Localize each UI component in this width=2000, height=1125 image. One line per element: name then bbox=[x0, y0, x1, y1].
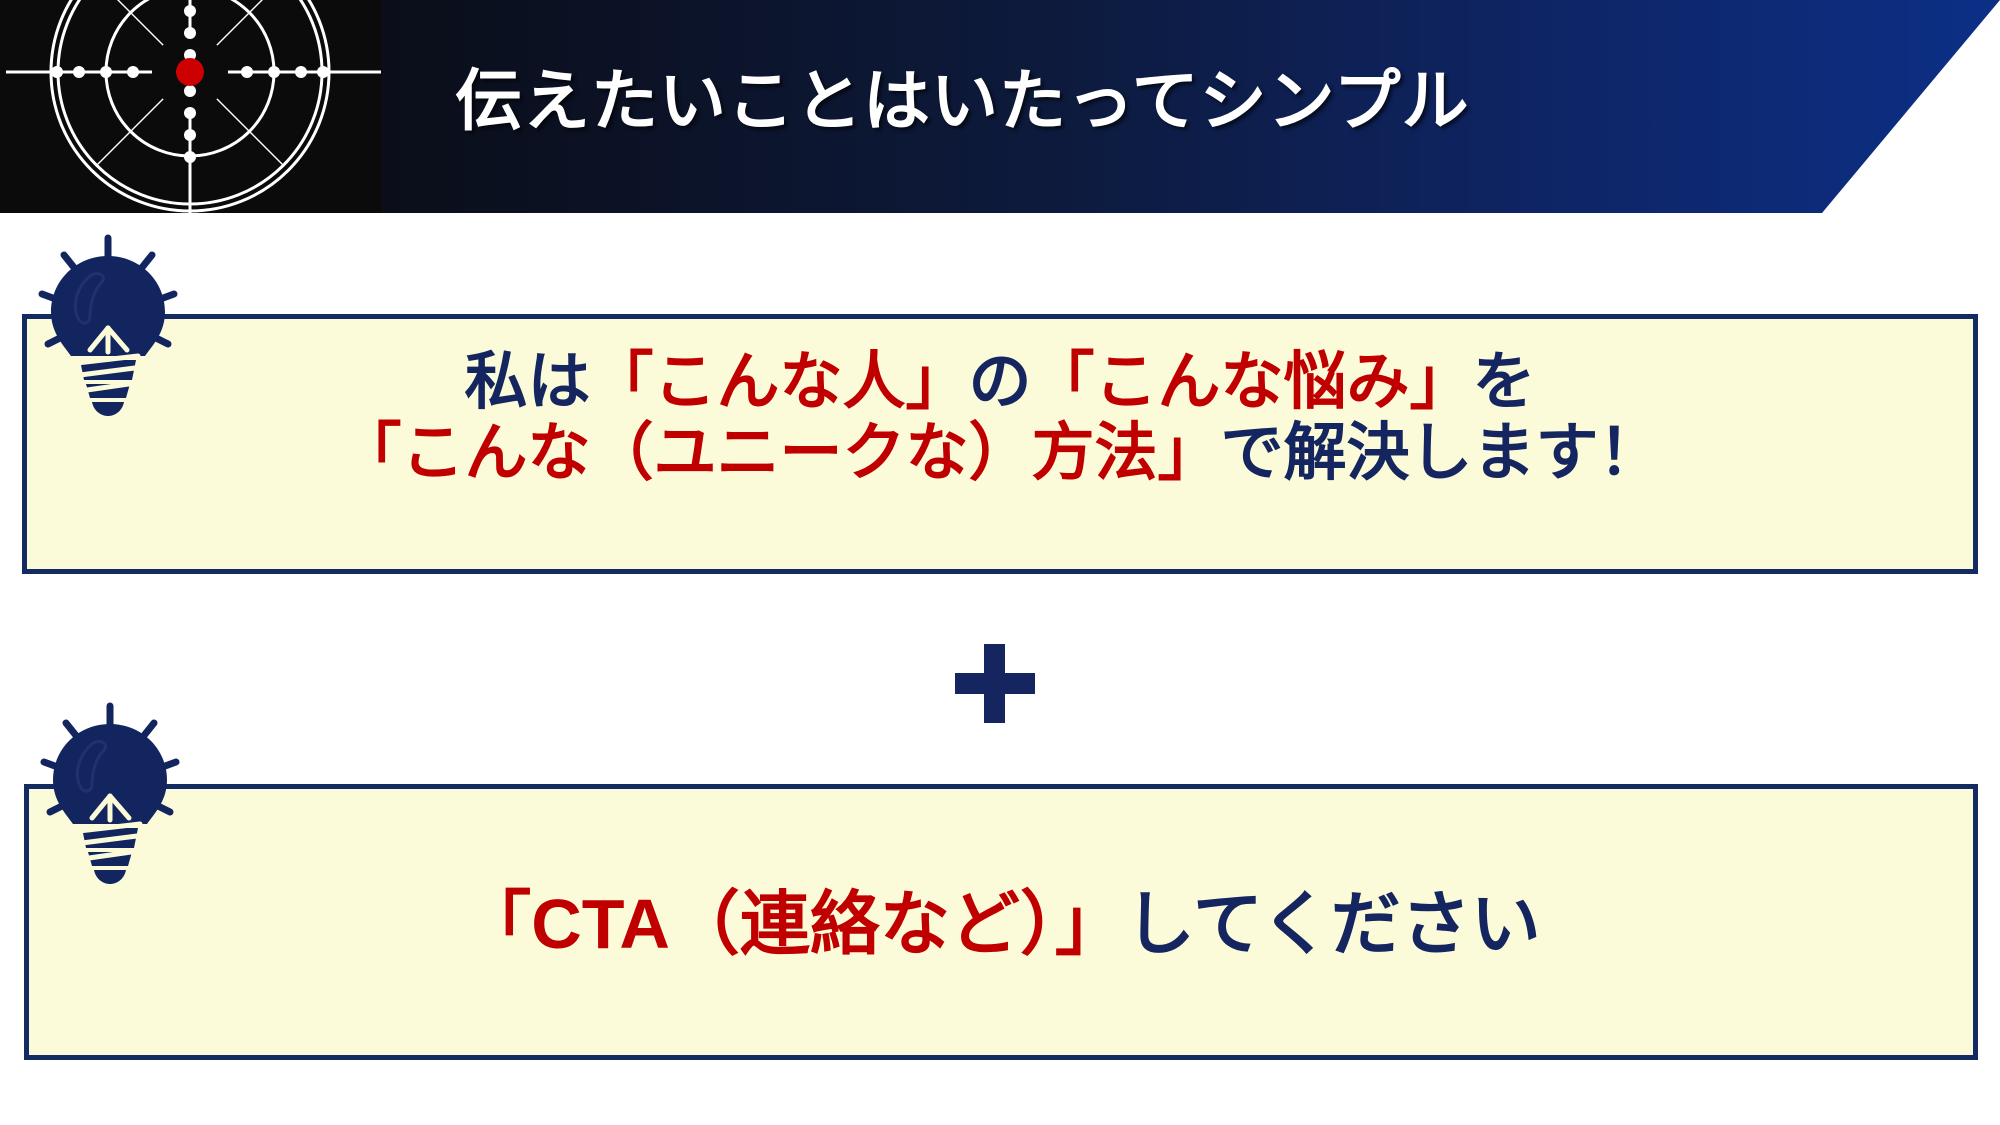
lightbulb-icon bbox=[28, 232, 188, 417]
target-center-dot bbox=[176, 58, 204, 86]
text-run: で解決します！ bbox=[1221, 418, 1662, 488]
cta-line-1: 「CTA（連絡など）」してください bbox=[29, 885, 1973, 963]
page-title: 伝えたいことはいたってシンプル bbox=[455, 0, 1470, 190]
lightbulb-icon bbox=[30, 700, 190, 885]
cta-box: 「CTA（連絡など）」してください bbox=[24, 784, 1978, 1060]
text-run: 「こんな人」 bbox=[591, 347, 969, 417]
message-line-1: 私は「こんな人」の「こんな悩み」を bbox=[27, 347, 1973, 418]
text-run: 私は bbox=[465, 347, 591, 417]
text-run: 「こんな（ユニークな）方法」 bbox=[339, 418, 1221, 488]
crosshair-target-icon bbox=[0, 0, 381, 213]
plus-bar-vertical bbox=[984, 644, 1005, 723]
message-box-text: 私は「こんな人」の「こんな悩み」を 「こんな（ユニークな）方法」で解決します！ bbox=[27, 347, 1973, 488]
message-line-2: 「こんな（ユニークな）方法」で解決します！ bbox=[27, 418, 1973, 489]
text-run: してください bbox=[1125, 885, 1541, 963]
message-box: 私は「こんな人」の「こんな悩み」を 「こんな（ユニークな）方法」で解決します！ bbox=[22, 314, 1978, 574]
text-run: 「CTA（連絡など）」 bbox=[461, 885, 1125, 963]
cta-box-text: 「CTA（連絡など）」してください bbox=[29, 885, 1973, 963]
text-run: の bbox=[969, 347, 1032, 417]
plus-connector bbox=[945, 633, 1045, 733]
text-run: 「こんな悩み」 bbox=[1032, 347, 1473, 417]
text-run: を bbox=[1473, 347, 1536, 417]
